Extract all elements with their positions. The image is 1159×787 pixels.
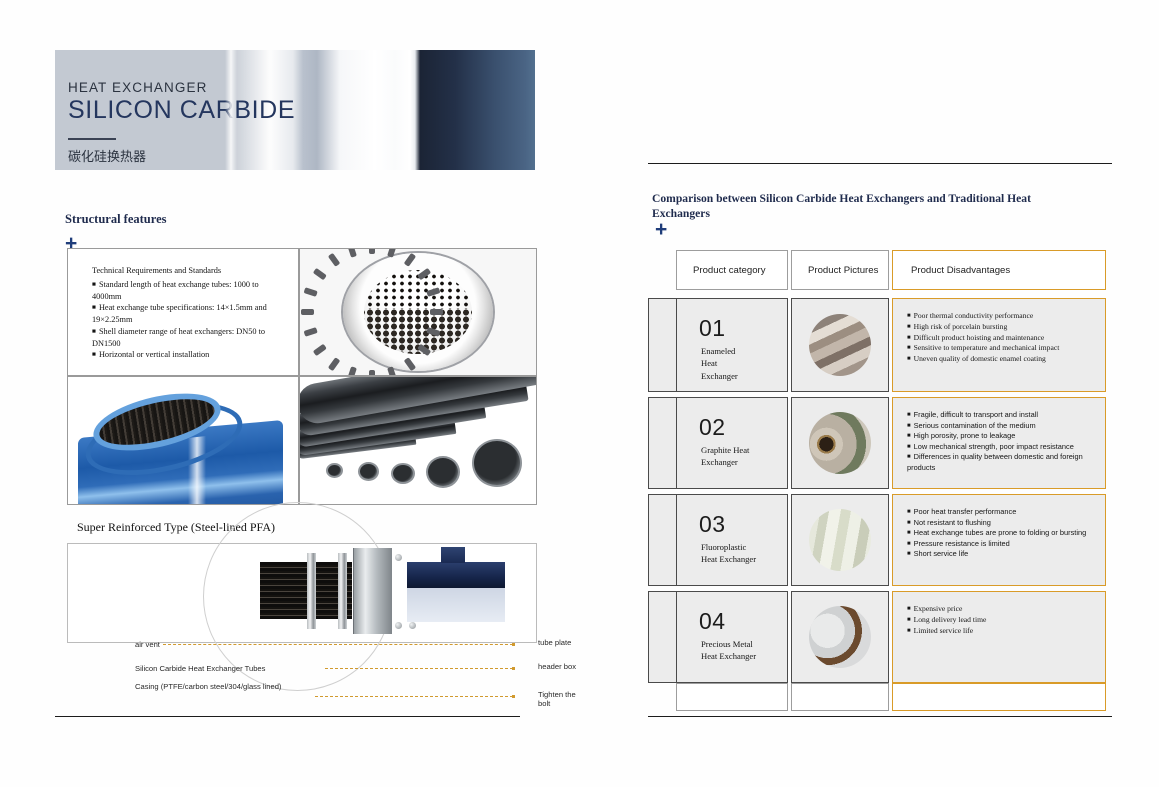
diagram-bolt-2 bbox=[395, 622, 402, 629]
pipe-end-3 bbox=[391, 463, 415, 484]
table-row[interactable]: 02Graphite Heat ExchangerFragile, diffic… bbox=[648, 397, 1110, 489]
tube-sheet-bolt bbox=[369, 248, 375, 254]
label-casing: Casing (PTFE/carbon steel/304/glass line… bbox=[135, 682, 281, 691]
label-sic-tubes: Silicon Carbide Heat Exchanger Tubes bbox=[135, 664, 265, 673]
leader-dot-3 bbox=[512, 695, 515, 698]
disadvantage-item: High risk of porcelain bursting bbox=[907, 322, 1097, 333]
disadvantage-list: Poor heat transfer performanceNot resist… bbox=[907, 507, 1097, 560]
footer-cell-disadvantages bbox=[892, 683, 1106, 711]
right-header-rule bbox=[648, 163, 1112, 164]
technical-specs-body: Technical Requirements and Standards Sta… bbox=[68, 249, 298, 361]
column-header-pictures: Product Pictures bbox=[791, 250, 889, 290]
cell-product-picture bbox=[791, 591, 889, 683]
diagram-shell-lower bbox=[407, 588, 505, 622]
cell-product-category: 04Precious Metal Heat Exchanger bbox=[676, 591, 788, 683]
disadvantage-item: Serious contamination of the medium bbox=[907, 421, 1097, 432]
technical-specs-cell: Technical Requirements and Standards Sta… bbox=[67, 248, 299, 376]
tube-sheet-bolt bbox=[304, 327, 318, 337]
diagram-baffle-2 bbox=[338, 553, 347, 629]
comparison-title: Comparison between Silicon Carbide Heat … bbox=[652, 192, 1052, 222]
tube-sheet-shell bbox=[343, 253, 493, 371]
tube-sheet-artwork bbox=[300, 249, 536, 375]
disadvantage-item: Poor thermal conductivity performance bbox=[907, 311, 1097, 322]
tube-sheet-bolt bbox=[313, 268, 327, 280]
pipes-artwork bbox=[300, 377, 536, 504]
diagram-baffle-1 bbox=[307, 553, 316, 629]
disadvantage-item: Long delivery lead time bbox=[907, 615, 1097, 626]
specs-item: Shell diameter range of heat exchangers:… bbox=[92, 326, 288, 350]
hero-banner: HEAT EXCHANGER SILICON CARBIDE 碳化硅换热器 bbox=[55, 50, 535, 170]
diagram-bolt-3 bbox=[409, 622, 416, 629]
table-row[interactable]: 01Enameled Heat ExchangerPoor thermal co… bbox=[648, 298, 1110, 392]
tube-sheet-bolt bbox=[313, 344, 327, 356]
tube-sheet-bolt bbox=[347, 248, 357, 258]
leader-dot-1 bbox=[512, 643, 515, 646]
pipe-end-1 bbox=[326, 463, 343, 478]
comparison-table: Product category Product Pictures Produc… bbox=[648, 250, 1110, 695]
blue-vessel-artwork bbox=[68, 377, 298, 504]
tube-sheet-bolt bbox=[328, 357, 340, 371]
tube-sheet-face bbox=[364, 270, 472, 354]
disadvantage-item: Fragile, difficult to transport and inst… bbox=[907, 410, 1097, 421]
footer-cell-category bbox=[676, 683, 788, 711]
comparison-plus-icon: + bbox=[655, 219, 667, 240]
tube-sheet-bolt bbox=[347, 366, 357, 376]
leader-header-box bbox=[325, 668, 513, 669]
fluoroplastic-heat-exchanger-photo bbox=[809, 509, 871, 571]
specs-item: Heat exchange tube specifications: 14×1.… bbox=[92, 302, 288, 326]
category-number: 04 bbox=[699, 608, 726, 635]
leader-bolt bbox=[315, 696, 513, 697]
disadvantage-item: Uneven quality of domestic enamel coatin… bbox=[907, 354, 1097, 365]
cell-product-category: 02Graphite Heat Exchanger bbox=[676, 397, 788, 489]
label-air-vent: air vent bbox=[135, 640, 160, 649]
specs-heading: Technical Requirements and Standards bbox=[92, 265, 288, 277]
category-number: 02 bbox=[699, 414, 726, 441]
cell-product-category: 01Enameled Heat Exchanger bbox=[676, 298, 788, 392]
diagram-bolt-1 bbox=[395, 554, 402, 561]
cell-product-disadvantages: Expensive priceLong delivery lead timeLi… bbox=[892, 591, 1106, 683]
specs-item: Standard length of heat exchange tubes: … bbox=[92, 279, 288, 303]
precious-metal-heat-exchanger-photo bbox=[809, 606, 871, 668]
right-footer-rule bbox=[648, 716, 1112, 717]
category-name: Enameled Heat Exchanger bbox=[701, 345, 738, 382]
disadvantage-item: Sensitive to temperature and mechanical … bbox=[907, 343, 1097, 354]
graphite-heat-exchanger-photo bbox=[809, 412, 871, 474]
tube-sheet-bolt bbox=[430, 309, 443, 315]
disadvantage-list: Poor thermal conductivity performanceHig… bbox=[907, 311, 1097, 365]
disadvantage-item: Difficult product hoisting and maintenan… bbox=[907, 333, 1097, 344]
blue-shell-vessel-photo bbox=[67, 376, 299, 505]
cell-product-picture bbox=[791, 494, 889, 586]
label-header-box: header box bbox=[538, 662, 576, 671]
cell-product-disadvantages: Poor heat transfer performanceNot resist… bbox=[892, 494, 1106, 586]
disadvantage-item: Short service life bbox=[907, 549, 1097, 560]
label-tube-plate: tube plate bbox=[538, 638, 590, 647]
specs-item: Horizontal or vertical installation bbox=[92, 349, 288, 361]
row-accent-strip bbox=[648, 494, 678, 586]
label-tighten-bolt: Tighten the bolt bbox=[538, 690, 586, 708]
tube-sheet-bolt bbox=[328, 253, 340, 267]
disadvantage-item: Low mechanical strength, poor impact res… bbox=[907, 442, 1097, 453]
super-reinforced-title: Super Reinforced Type (Steel-lined PFA) bbox=[77, 520, 275, 535]
row-accent-strip bbox=[648, 591, 678, 683]
column-header-disadvantages: Product Disadvantages bbox=[892, 250, 1106, 290]
footer-cell-picture bbox=[791, 683, 889, 711]
hero-title: SILICON CARBIDE bbox=[68, 97, 308, 124]
table-row[interactable]: 03Fluoroplastic Heat ExchangerPoor heat … bbox=[648, 494, 1110, 586]
row-accent-strip bbox=[648, 298, 678, 392]
tube-sheet-photo bbox=[299, 248, 537, 376]
disadvantage-item: Differences in quality between domestic … bbox=[907, 452, 1097, 473]
category-name: Precious Metal Heat Exchanger bbox=[701, 638, 756, 663]
disadvantage-item: High porosity, prone to leakage bbox=[907, 431, 1097, 442]
cell-product-disadvantages: Fragile, difficult to transport and inst… bbox=[892, 397, 1106, 489]
leader-dot-2 bbox=[512, 667, 515, 670]
hero-text-block: HEAT EXCHANGER SILICON CARBIDE 碳化硅换热器 bbox=[68, 80, 308, 165]
section-title: Structural features bbox=[65, 212, 166, 227]
silicon-carbide-tubes-photo bbox=[299, 376, 537, 505]
disadvantage-item: Not resistant to flushing bbox=[907, 518, 1097, 529]
feature-grid: Technical Requirements and Standards Sta… bbox=[67, 248, 537, 505]
leader-air-vent bbox=[163, 644, 513, 645]
hero-kicker: HEAT EXCHANGER bbox=[68, 80, 308, 95]
pipe-end-5 bbox=[472, 439, 522, 487]
column-header-category: Product category bbox=[676, 250, 788, 290]
tube-sheet-bolt bbox=[301, 309, 314, 315]
pipe-end-2 bbox=[358, 462, 379, 481]
cell-product-category: 03Fluoroplastic Heat Exchanger bbox=[676, 494, 788, 586]
left-panel: HEAT EXCHANGER SILICON CARBIDE 碳化硅换热器 St… bbox=[55, 50, 535, 720]
diagram-nozzle bbox=[441, 547, 465, 563]
cell-product-disadvantages: Poor thermal conductivity performanceHig… bbox=[892, 298, 1106, 392]
hero-chinese-title: 碳化硅换热器 bbox=[68, 146, 308, 165]
left-footer-rule bbox=[55, 716, 520, 717]
category-number: 03 bbox=[699, 511, 726, 538]
brochure-page: HEAT EXCHANGER SILICON CARBIDE 碳化硅换热器 St… bbox=[0, 0, 1159, 787]
disadvantage-item: Expensive price bbox=[907, 604, 1097, 615]
category-name: Fluoroplastic Heat Exchanger bbox=[701, 541, 756, 566]
disadvantage-item: Limited service life bbox=[907, 626, 1097, 637]
disadvantage-list: Expensive priceLong delivery lead timeLi… bbox=[907, 604, 1097, 636]
table-row[interactable]: 04Precious Metal Heat ExchangerExpensive… bbox=[648, 591, 1110, 683]
tube-sheet-bolt bbox=[304, 287, 318, 297]
diagram-shell-upper bbox=[407, 562, 505, 588]
row-accent-strip bbox=[648, 397, 678, 489]
diagram-header-box bbox=[353, 548, 392, 634]
disadvantage-list: Fragile, difficult to transport and inst… bbox=[907, 410, 1097, 473]
disadvantage-item: Heat exchange tubes are prone to folding… bbox=[907, 528, 1097, 539]
disadvantage-item: Pressure resistance is limited bbox=[907, 539, 1097, 550]
disadvantage-item: Poor heat transfer performance bbox=[907, 507, 1097, 518]
specs-list: Standard length of heat exchange tubes: … bbox=[92, 279, 288, 361]
category-number: 01 bbox=[699, 315, 726, 342]
hero-divider bbox=[68, 138, 116, 140]
category-name: Graphite Heat Exchanger bbox=[701, 444, 749, 469]
cell-product-picture bbox=[791, 298, 889, 392]
pipe-end-4 bbox=[426, 456, 460, 488]
cell-product-picture bbox=[791, 397, 889, 489]
enameled-heat-exchanger-photo bbox=[809, 314, 871, 376]
